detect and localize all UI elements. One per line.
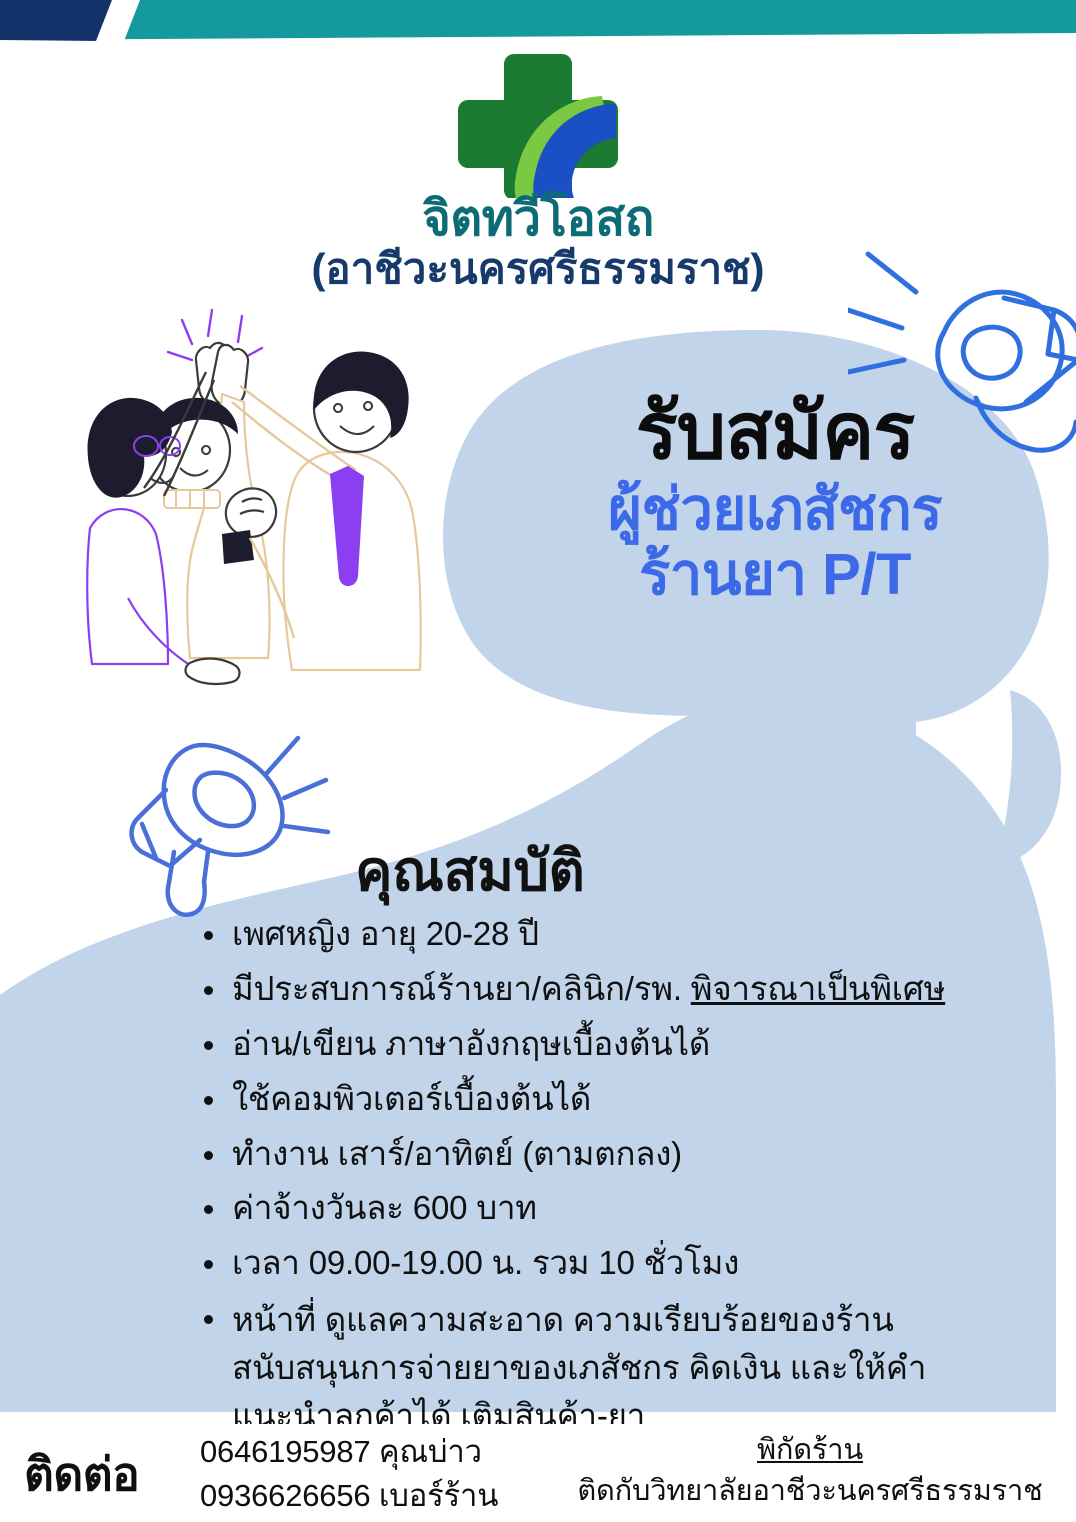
list-item: มีประสบการณ์ร้านยา/คลินิก/รพ. พิจารณาเป็…: [196, 967, 996, 1012]
location-detail: ติดกับวิทยาลัยอาชีวะนครศรีธรรมราช: [560, 1471, 1060, 1512]
qual-text-2: อ่าน/เขียน ภาษาอังกฤษเบื้องต้นได้: [232, 1025, 710, 1062]
qual-underline-1: พิจารณาเป็นพิเศษ: [691, 970, 945, 1007]
top-decorative-bar: [0, 0, 1076, 44]
list-item: เวลา 09.00-19.00 น. รวม 10 ชั่วโมง: [196, 1241, 996, 1286]
qualifications-list: เพศหญิง อายุ 20-28 ปี มีประสบการณ์ร้านยา…: [196, 912, 996, 1450]
qual-text-5: ค่าจ้างวันละ 600 บาท: [232, 1189, 537, 1226]
headline-line-1: รับสมัคร: [540, 392, 1010, 470]
list-item: ทำงาน เสาร์/อาทิตย์ (ตามตกลง): [196, 1132, 996, 1177]
qual-text-1: มีประสบการณ์ร้านยา/คลินิก/รพ.: [232, 970, 691, 1007]
contact-phone-block: 0646195987 คุณบ่าว 0936626656 เบอร์ร้าน: [200, 1430, 498, 1518]
headline-line-3: ร้านยา P/T: [540, 543, 1010, 608]
three-people-high-five-illustration: [72, 298, 432, 698]
megaphone-icon: [112, 728, 360, 924]
phone-shop[interactable]: 0936626656 เบอร์ร้าน: [200, 1474, 498, 1518]
list-item: ค่าจ้างวันละ 600 บาท: [196, 1186, 996, 1231]
qual-text-3: ใช้คอมพิวเตอร์เบื้องต้นได้: [232, 1080, 591, 1117]
qual-text-6: เวลา 09.00-19.00 น. รวม 10 ชั่วโมง: [232, 1244, 739, 1281]
location-title: พิกัดร้าน: [560, 1430, 1060, 1471]
phone-primary[interactable]: 0646195987 คุณบ่าว: [200, 1430, 498, 1474]
headline-block: รับสมัคร ผู้ช่วยเภสัชกร ร้านยา P/T: [540, 392, 1010, 608]
contact-label: ติดต่อ: [24, 1438, 139, 1511]
qual-text-0: เพศหญิง อายุ 20-28 ปี: [232, 915, 539, 952]
headline-line-2: ผู้ช่วยเภสัชกร: [540, 478, 1010, 543]
list-item: หน้าที่ ดูแลความสะอาด ความเรียบร้อยของร้…: [196, 1296, 996, 1440]
qual-text-7: หน้าที่ ดูแลความสะอาด ความเรียบร้อยของร้…: [232, 1301, 926, 1434]
location-block: พิกัดร้าน ติดกับวิทยาลัยอาชีวะนครศรีธรรม…: [560, 1430, 1060, 1512]
blob-accent: [994, 690, 1061, 866]
qualifications-title: คุณสมบัติ: [355, 826, 584, 915]
list-item: ใช้คอมพิวเตอร์เบื้องต้นได้: [196, 1077, 996, 1122]
job-recruitment-poster: จิตทวีโอสถ (อาชีวะนครศรีธรรมราช): [0, 0, 1076, 1522]
qual-text-4: ทำงาน เสาร์/อาทิตย์ (ตามตกลง): [232, 1135, 682, 1172]
teal-band: [0, 0, 1076, 40]
list-item: อ่าน/เขียน ภาษาอังกฤษเบื้องต้นได้: [196, 1022, 996, 1067]
pharmacy-cross-logo: [452, 48, 624, 198]
navy-block: [0, 0, 112, 41]
list-item: เพศหญิง อายุ 20-28 ปี: [196, 912, 996, 957]
footer: ติดต่อ 0646195987 คุณบ่าว 0936626656 เบอ…: [0, 1424, 1076, 1522]
